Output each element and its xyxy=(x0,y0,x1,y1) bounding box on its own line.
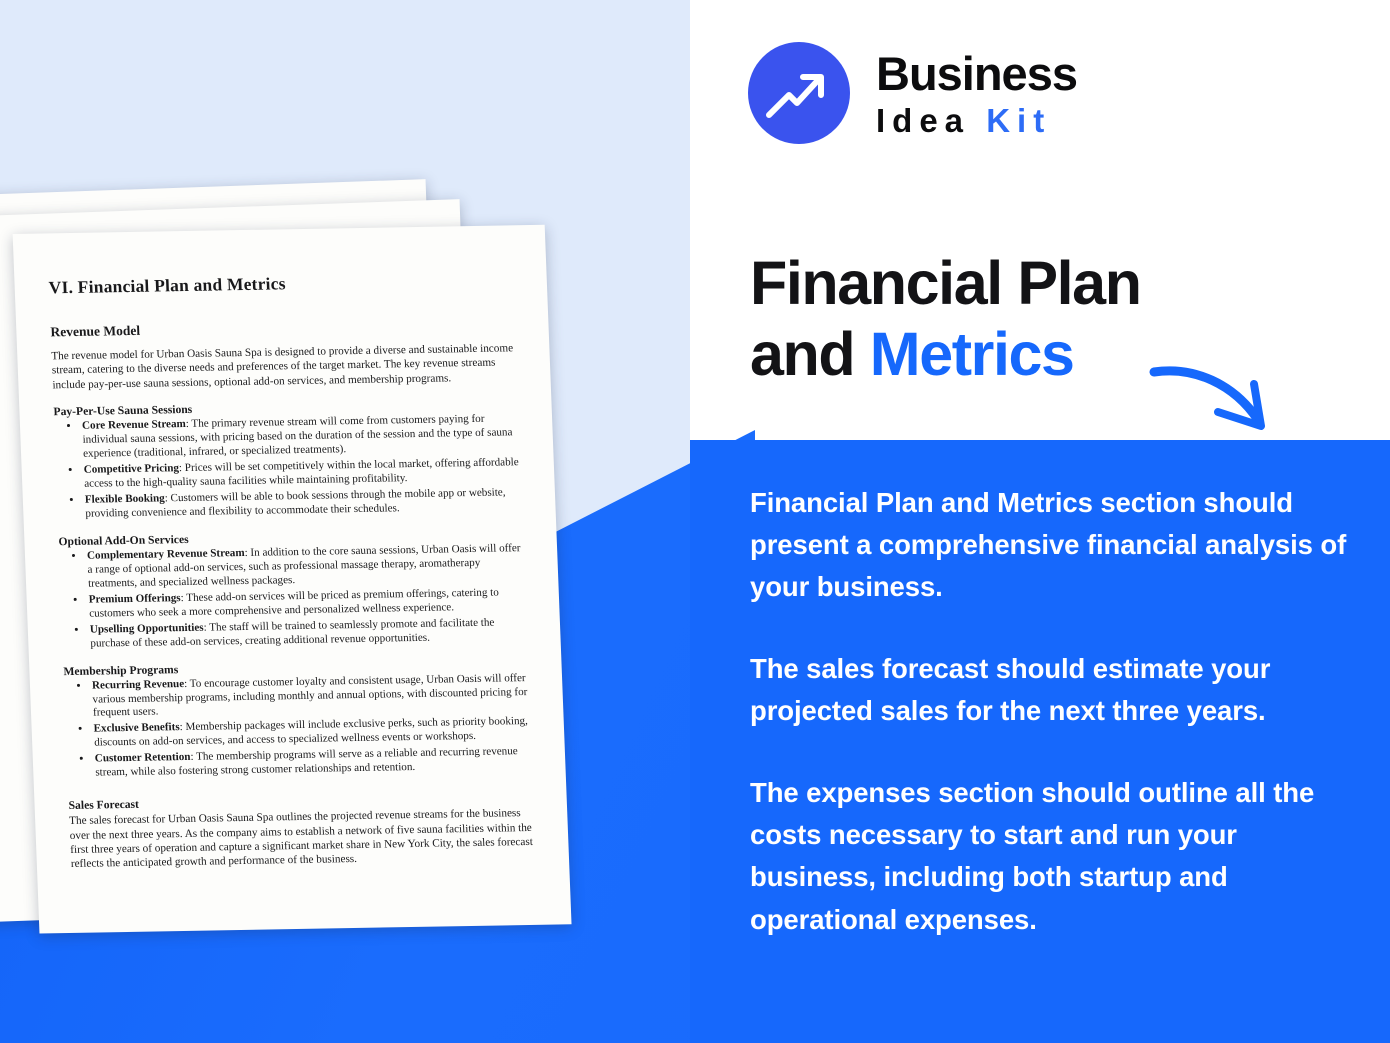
panel-paragraph-2: The sales forecast should estimate your … xyxy=(750,648,1350,732)
brand-wordmark: Business Idea Kit xyxy=(876,50,1077,137)
list-item-term: Competitive Pricing xyxy=(83,462,179,476)
slide-canvas: VI. Re The inc stre Pay Op M S T o t VI.… xyxy=(0,0,1390,1043)
document-intro-paragraph: The revenue model for Urban Oasis Sauna … xyxy=(51,341,517,392)
document-groups: Pay-Per-Use Sauna Sessions Core Revenue … xyxy=(53,397,531,781)
forecast-paragraph: The sales forecast for Urban Oasis Sauna… xyxy=(69,806,535,871)
list-item: Upselling Opportunities: The staff will … xyxy=(88,616,527,652)
brand-name-line1-text: Business xyxy=(876,47,1077,100)
group-bullet-list: Recurring Revenue: To encourage customer… xyxy=(90,672,532,781)
page-title-accent: Metrics xyxy=(870,320,1074,388)
document-group: Pay-Per-Use Sauna Sessions Core Revenue … xyxy=(53,397,522,522)
list-item-term: Core Revenue Stream xyxy=(82,418,186,432)
panel-paragraph-3: The expenses section should outline all … xyxy=(750,772,1350,940)
brand-name-line1: Business xyxy=(876,50,1077,97)
group-bullet-list: Core Revenue Stream: The primary revenue… xyxy=(80,412,522,521)
document-title: VI. Financial Plan and Metrics xyxy=(48,269,513,298)
document-section-heading: Revenue Model xyxy=(50,316,515,340)
panel-paragraph-1: Financial Plan and Metrics section shoul… xyxy=(750,482,1350,608)
document-group: Optional Add-On Services Complementary R… xyxy=(58,527,527,652)
document-page-front: VI. Financial Plan and Metrics Revenue M… xyxy=(13,225,572,934)
page-title-and: and xyxy=(750,320,870,388)
panel-copy: Financial Plan and Metrics section shoul… xyxy=(750,482,1350,941)
list-item-term: Upselling Opportunities xyxy=(90,621,204,635)
document-group: Membership Programs Recurring Revenue: T… xyxy=(63,657,532,782)
page-title: Financial Plan and Metrics xyxy=(750,248,1141,390)
page-title-line1: Financial Plan xyxy=(750,248,1141,319)
page-title-line2: and Metrics xyxy=(750,319,1141,390)
list-item-term: Exclusive Benefits xyxy=(93,722,179,735)
list-item: Customer Retention: The membership progr… xyxy=(93,745,532,781)
trend-up-circle-icon xyxy=(748,42,850,144)
brand-kit-text: Kit xyxy=(986,102,1051,139)
list-item: Flexible Booking: Customers will be able… xyxy=(83,486,522,522)
brand-logo: Business Idea Kit xyxy=(748,42,1077,144)
list-item-term: Complementary Revenue Stream xyxy=(87,547,245,562)
brand-name-line2: Idea Kit xyxy=(876,104,1077,137)
group-bullet-list: Complementary Revenue Stream: In additio… xyxy=(85,542,527,651)
list-item: Complementary Revenue Stream: In additio… xyxy=(85,542,525,592)
list-item: Recurring Revenue: To encourage customer… xyxy=(90,672,530,722)
list-item-term: Recurring Revenue xyxy=(92,678,185,692)
list-item-term: Customer Retention xyxy=(95,751,191,765)
document-page-front-content: VI. Financial Plan and Metrics Revenue M… xyxy=(13,225,572,934)
list-item-term: Flexible Booking xyxy=(85,492,165,505)
brand-idea-text: Idea xyxy=(876,102,986,139)
list-item: Core Revenue Stream: The primary revenue… xyxy=(80,412,520,462)
curved-arrow-down-right-icon xyxy=(1148,358,1298,438)
list-item-term: Premium Offerings xyxy=(88,592,180,606)
